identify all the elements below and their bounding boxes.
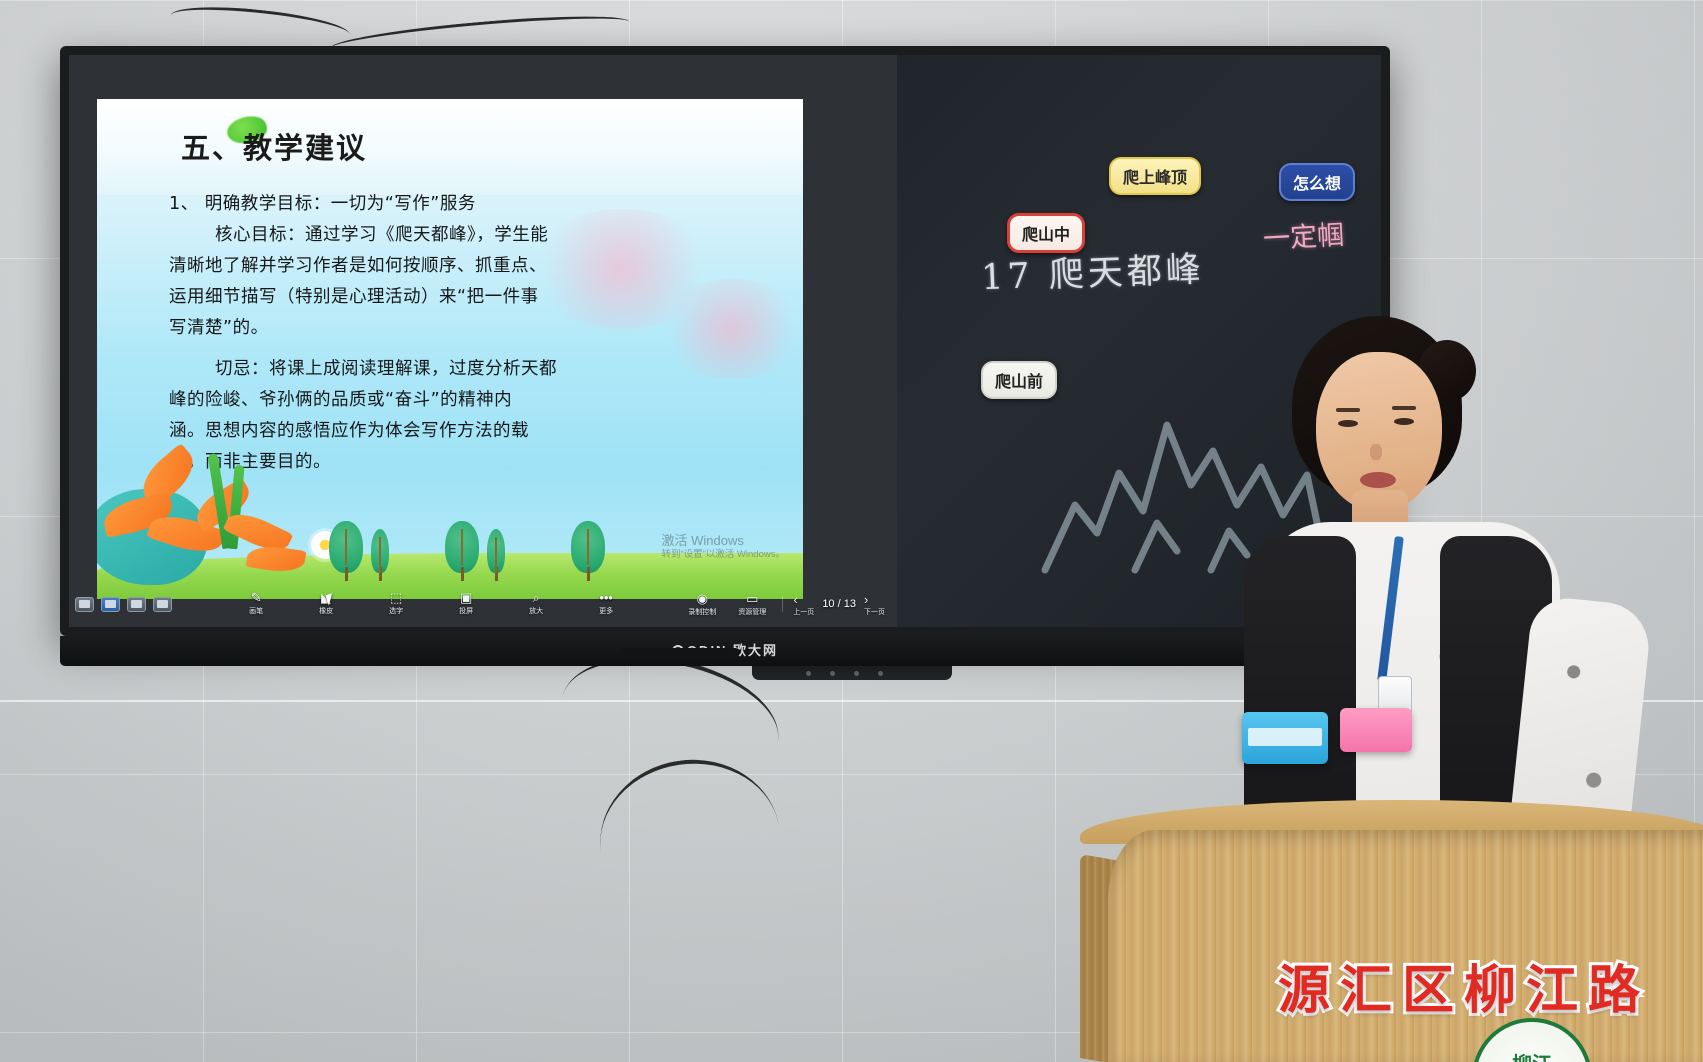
presentation-toolbar[interactable]: ✎ 画笔 ◣ 橡皮 ⬚ 选字 ▣ 投屏 — [69, 587, 897, 621]
decorative-tree — [445, 521, 479, 581]
chalk-note: 一定帼 — [1262, 213, 1345, 256]
watermark-subtitle: 转到“设置”以激活 Windows。 — [661, 549, 785, 561]
toolbar-app-button[interactable] — [127, 597, 146, 612]
tool-capture-label: 投屏 — [446, 606, 486, 616]
presenter-face — [1316, 352, 1442, 512]
page-indicator: 10 / 13 — [822, 598, 856, 610]
slide-line: 1、 明确教学目标：一切为“写作”服务 — [169, 189, 789, 220]
prev-slide-label: 上一页 — [793, 607, 814, 617]
classroom-scene: 五、教学建议 1、 明确教学目标：一切为“写作”服务 核心目标：通过学习《爬天都… — [0, 0, 1703, 1062]
eyebrow-left — [1336, 408, 1360, 412]
slide-line: 运用细节描写（特别是心理活动）来“把一件事 — [169, 282, 789, 313]
slide-title: 五、教学建议 — [181, 125, 367, 167]
board-display-panel[interactable]: 五、教学建议 1、 明确教学目标：一切为“写作”服务 核心目标：通过学习《爬天都… — [69, 55, 897, 627]
more-icon: ••• — [586, 591, 626, 605]
podium: 源汇区柳江路 柳江 — [1080, 800, 1703, 1062]
presentation-slide[interactable]: 五、教学建议 1、 明确教学目标：一切为“写作”服务 核心目标：通过学习《爬天都… — [97, 99, 803, 599]
slide-line: 核心目标：通过学习《爬天都峰》，学生能 — [169, 220, 789, 251]
board-speaker — [620, 648, 740, 657]
activate-windows-watermark: 激活 Windows 转到“设置”以激活 Windows。 — [661, 533, 785, 561]
nose — [1370, 444, 1382, 460]
blue-tissue-box — [1242, 712, 1328, 764]
slide-line: 切忌：将课上成阅读理解课，过度分析天都 — [169, 354, 789, 385]
capture-icon: ▣ — [446, 591, 486, 605]
podium-front: 源汇区柳江路 — [1108, 830, 1703, 1062]
card-during[interactable]: 爬山中 — [1007, 213, 1085, 253]
tool-more-label: 更多 — [586, 606, 626, 616]
tool-pen[interactable]: ✎ 画笔 — [236, 591, 276, 616]
next-slide-button[interactable]: › 下一页 — [864, 592, 885, 617]
decorative-tree — [571, 521, 605, 581]
monitor-icon: ▭ — [732, 592, 772, 606]
eye-left — [1338, 420, 1358, 427]
watermark-title: 激活 Windows — [661, 533, 785, 549]
chevron-right-icon: › — [864, 592, 868, 607]
tool-pen-label: 画笔 — [236, 606, 276, 616]
tool-select[interactable]: ⬚ 选字 — [376, 591, 416, 616]
tool-select-label: 选字 — [376, 606, 416, 616]
toolbar-left-group[interactable] — [75, 597, 172, 612]
tool-resource-manager[interactable]: ▭ 资源管理 — [732, 592, 772, 617]
page-total: 13 — [844, 598, 856, 610]
decorative-tree — [329, 521, 363, 581]
card-before[interactable]: 爬山前 — [981, 361, 1057, 399]
card-peak[interactable]: 爬上峰顶 — [1109, 157, 1201, 195]
toolbar-grid-button[interactable] — [101, 597, 120, 612]
eye-right — [1394, 418, 1414, 425]
slide-line: 峰的险峻、爷孙俩的品质或“奋斗”的精神内 — [169, 385, 789, 416]
chevron-left-icon: ‹ — [793, 592, 797, 607]
slide-line: 涵。思想内容的感悟应作为体会写作方法的载 — [169, 416, 789, 447]
toolbar-right-group[interactable]: ◉ 录制控制 ▭ 资源管理 ‹ 上一页 10 — [682, 592, 891, 617]
toolbar-divider — [782, 596, 783, 612]
toolbar-tools[interactable]: ✎ 画笔 ◣ 橡皮 ⬚ 选字 ▣ 投屏 — [180, 591, 682, 617]
page-separator: / — [838, 598, 841, 610]
tool-resource-label: 资源管理 — [732, 607, 772, 617]
slide-pager[interactable]: ‹ 上一页 10 / 13 › 下一页 — [793, 592, 885, 617]
pink-storage-box — [1340, 708, 1412, 752]
decorative-tree — [371, 529, 389, 581]
slide-line: 体，而非主要目的。 — [169, 447, 789, 478]
tool-zoom[interactable]: ⌕ 放大 — [516, 591, 556, 616]
tool-capture[interactable]: ▣ 投屏 — [446, 591, 486, 616]
tool-record[interactable]: ◉ 录制控制 — [682, 592, 722, 617]
decorative-tree — [487, 529, 505, 581]
podium-text: 源汇区柳江路 — [1278, 948, 1650, 1023]
select-icon: ⬚ — [376, 591, 416, 605]
slide-body: 1、 明确教学目标：一切为“写作”服务 核心目标：通过学习《爬天都峰》，学生能 … — [169, 189, 789, 478]
next-slide-label: 下一页 — [864, 607, 885, 617]
tool-record-label: 录制控制 — [682, 607, 722, 617]
slide-line: 写清楚”的。 — [169, 313, 789, 344]
emblem-label: 柳江 — [1476, 1048, 1588, 1062]
pen-icon: ✎ — [236, 591, 276, 605]
tool-zoom-label: 放大 — [516, 606, 556, 616]
page-current: 10 — [822, 598, 834, 610]
eyebrow-right — [1392, 406, 1416, 410]
tool-eraser-label: 橡皮 — [306, 606, 346, 616]
slide-line: 清晰地了解并学习作者是如何按顺序、抓重点、 — [169, 251, 789, 282]
prev-slide-button[interactable]: ‹ 上一页 — [793, 592, 814, 617]
card-think[interactable]: 怎么想 — [1279, 163, 1355, 201]
toolbar-thumbnail-button[interactable] — [75, 597, 94, 612]
zoom-icon: ⌕ — [516, 591, 556, 605]
tool-more[interactable]: ••• 更多 — [586, 591, 626, 616]
mouth — [1360, 472, 1396, 488]
toolbar-settings-button[interactable] — [153, 597, 172, 612]
record-icon: ◉ — [682, 592, 722, 606]
board-stand — [752, 666, 952, 680]
